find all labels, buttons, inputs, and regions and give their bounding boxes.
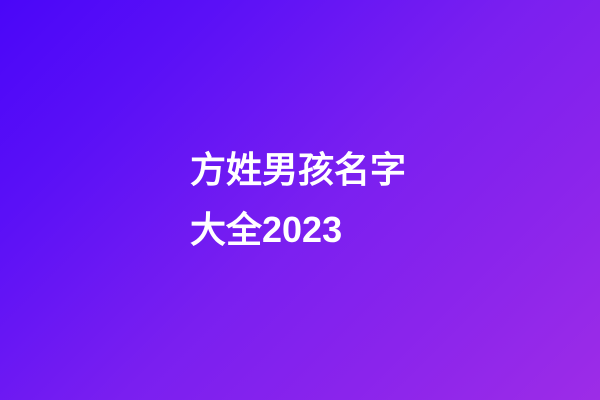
- banner-title-line-2: 大全2023: [190, 200, 342, 260]
- banner-title-line-1: 方姓男孩名字: [190, 140, 406, 200]
- promo-banner: 方姓男孩名字 大全2023: [0, 0, 600, 400]
